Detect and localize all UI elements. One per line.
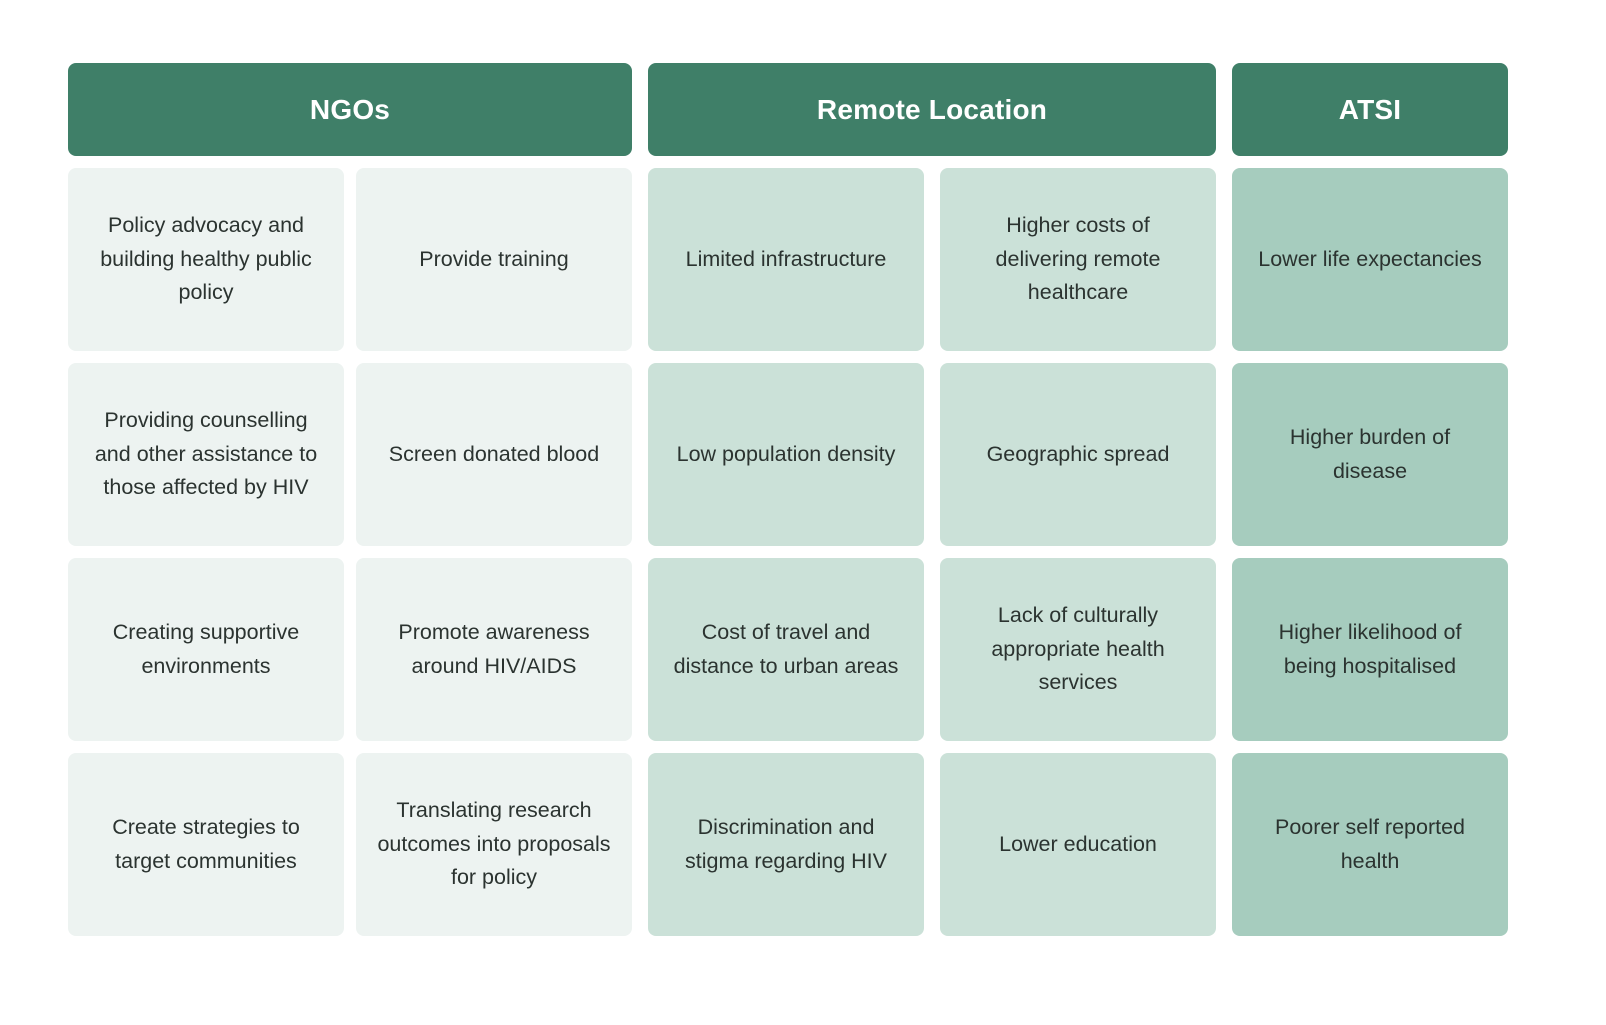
matrix-cell[interactable]: Lower education [940,753,1216,936]
matrix-cell[interactable]: Lower life expectancies [1232,168,1508,351]
matrix-cell[interactable]: Lack of culturally appropriate health se… [940,558,1216,741]
matrix-cell[interactable]: Cost of travel and distance to urban are… [648,558,924,741]
matrix-cell[interactable]: Discrimination and stigma regarding HIV [648,753,924,936]
matrix-cell[interactable]: Geographic spread [940,363,1216,546]
matrix-cell[interactable]: Higher likelihood of being hospitalised [1232,558,1508,741]
matrix-cell[interactable]: Providing counselling and other assistan… [68,363,344,546]
matrix-cell[interactable]: Translating research outcomes into propo… [356,753,632,936]
matrix-cell[interactable]: Creating supportive environments [68,558,344,741]
matrix-cell[interactable]: Higher burden of disease [1232,363,1508,546]
column-header-atsi[interactable]: ATSI [1232,63,1508,156]
matrix-page: NGOs Remote Location ATSI Policy advocac… [0,0,1606,1025]
category-matrix: NGOs Remote Location ATSI Policy advocac… [68,63,1538,955]
matrix-cell[interactable]: Promote awareness around HIV/AIDS [356,558,632,741]
matrix-cell[interactable]: Higher costs of delivering remote health… [940,168,1216,351]
column-header-remote-location[interactable]: Remote Location [648,63,1216,156]
matrix-cell[interactable]: Poorer self reported health [1232,753,1508,936]
matrix-cell[interactable]: Screen donated blood [356,363,632,546]
matrix-cell[interactable]: Limited infrastructure [648,168,924,351]
matrix-cell[interactable]: Provide training [356,168,632,351]
matrix-cell[interactable]: Create strategies to target communities [68,753,344,936]
column-header-ngos[interactable]: NGOs [68,63,632,156]
matrix-cell[interactable]: Low population density [648,363,924,546]
matrix-cell[interactable]: Policy advocacy and building healthy pub… [68,168,344,351]
